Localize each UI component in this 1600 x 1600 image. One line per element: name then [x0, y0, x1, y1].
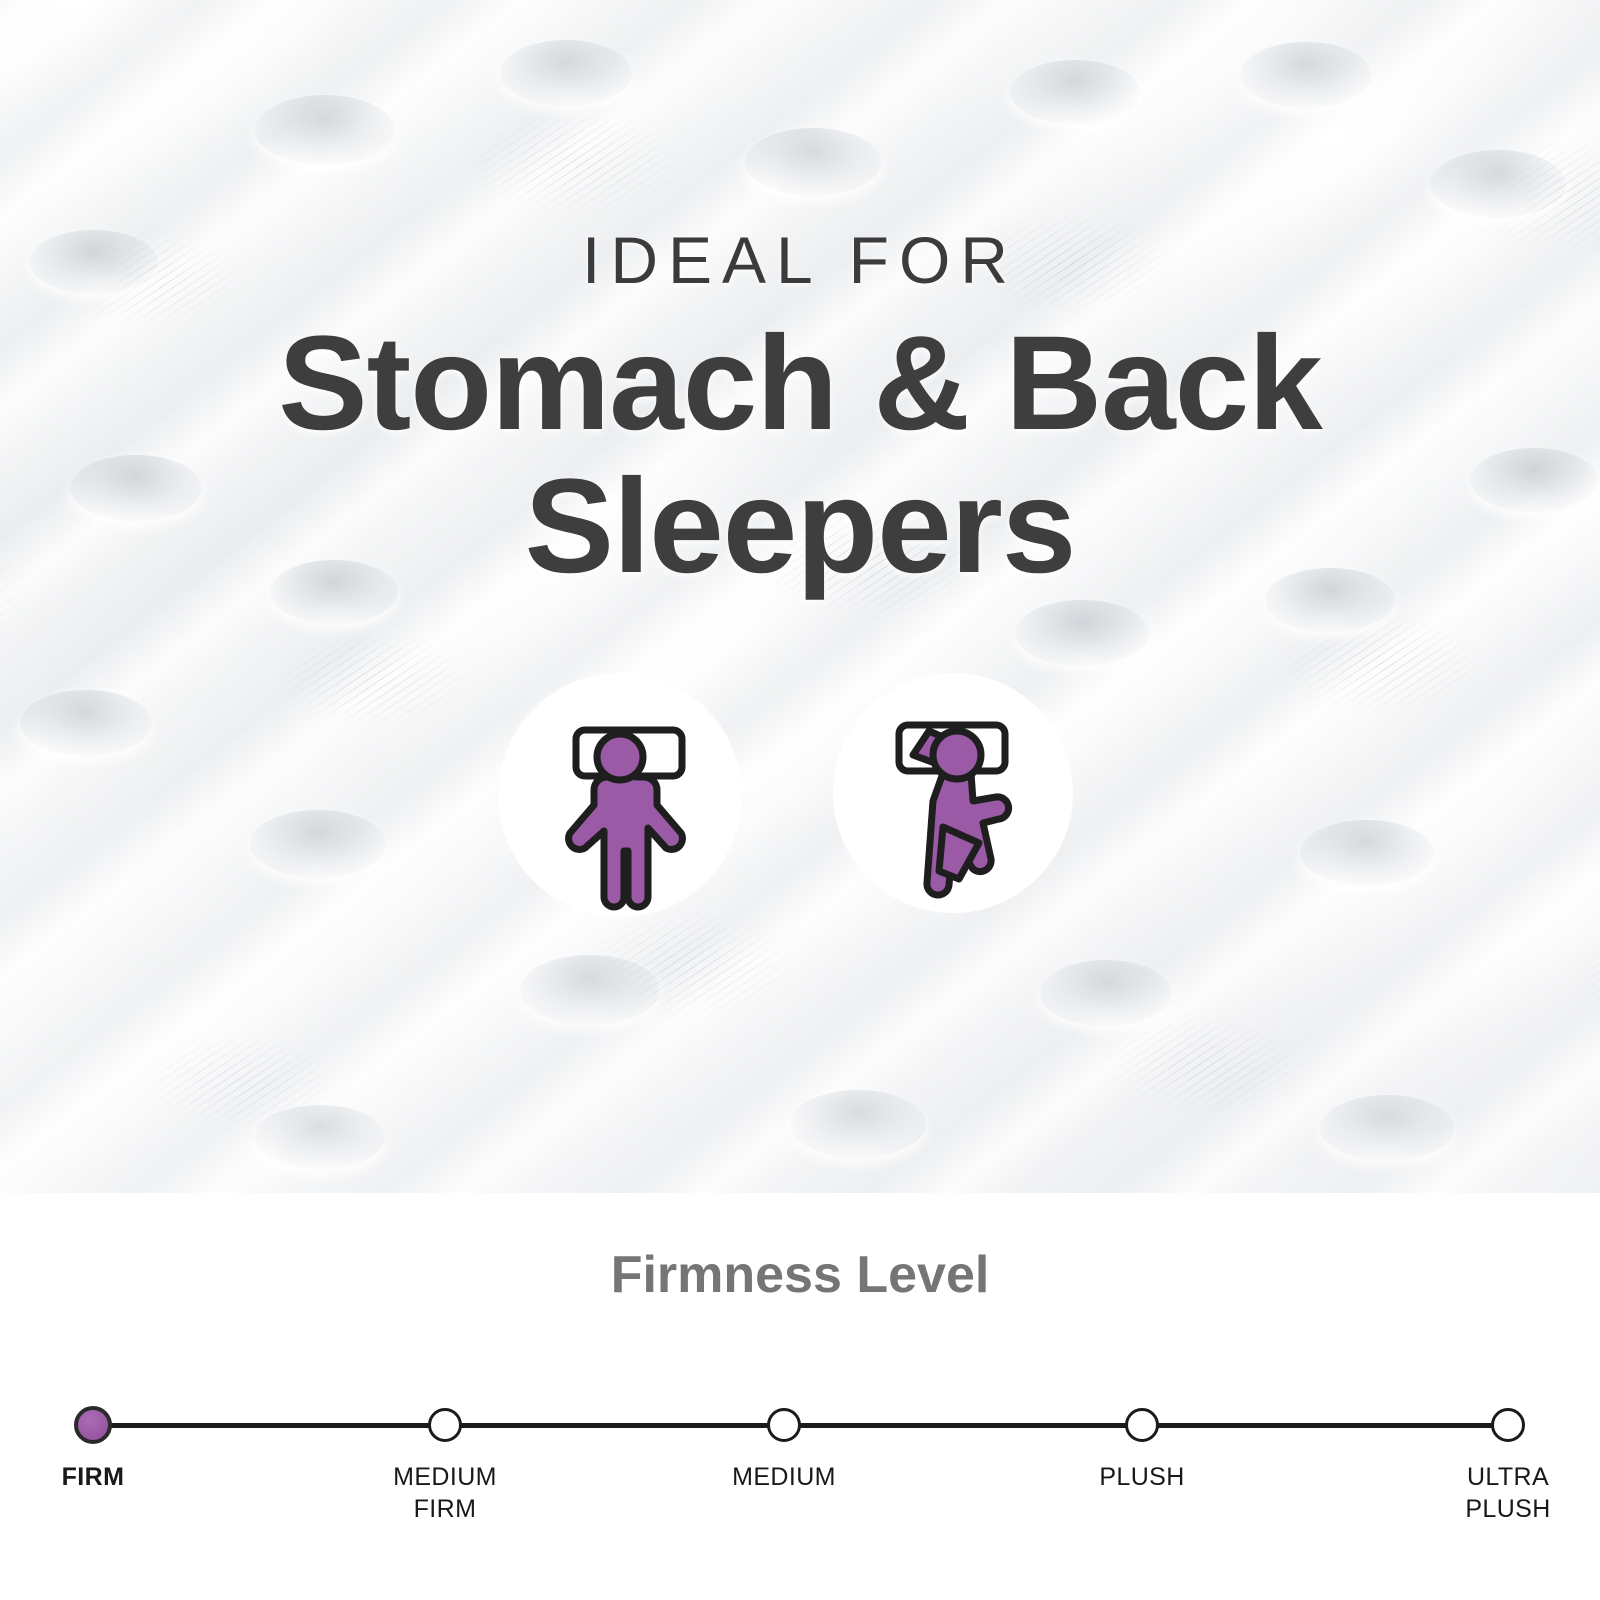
firmness-label-line1: FIRM	[62, 1463, 125, 1491]
firmness-label-plush: PLUSH	[1012, 1461, 1272, 1493]
firmness-label-line2: FIRM	[315, 1493, 575, 1525]
back-sleeper-badge	[498, 673, 742, 917]
page-title: Stomach & Back Sleepers	[0, 312, 1600, 599]
headline-line-2: Sleepers	[0, 455, 1600, 598]
headline-line-1: Stomach & Back	[0, 312, 1600, 455]
stomach-sleeper-icon	[833, 673, 1073, 913]
firmness-label-ultra-plush: ULTRA PLUSH	[1378, 1461, 1600, 1525]
firmness-label-line1: MEDIUM	[393, 1463, 497, 1491]
firmness-label-line1: ULTRA	[1467, 1463, 1549, 1491]
back-sleeper-icon	[498, 673, 742, 917]
firmness-node-medium[interactable]	[767, 1408, 801, 1442]
firmness-node-ultra-plush[interactable]	[1491, 1408, 1525, 1442]
firmness-node-medium-firm[interactable]	[428, 1408, 462, 1442]
firmness-label-line1: MEDIUM	[732, 1463, 836, 1491]
firmness-node-plush[interactable]	[1125, 1408, 1159, 1442]
stomach-sleeper-badge	[833, 673, 1073, 913]
eyebrow-text: IDEAL FOR	[0, 222, 1600, 298]
firmness-label-firm: FIRM	[0, 1461, 223, 1493]
firmness-label-line1: PLUSH	[1099, 1463, 1184, 1491]
hero-section: IDEAL FOR Stomach & Back Sleepers	[0, 0, 1600, 1193]
firmness-node-firm[interactable]	[74, 1406, 112, 1444]
firmness-label-line2: PLUSH	[1378, 1493, 1600, 1525]
firmness-scale: FIRM MEDIUM FIRM MEDIUM PLUSH ULTRA PLUS…	[0, 1193, 1600, 1600]
firmness-label-medium: MEDIUM	[654, 1461, 914, 1493]
firmness-label-medium-firm: MEDIUM FIRM	[315, 1461, 575, 1525]
firmness-section: Firmness Level FIRM MEDIUM FIRM MEDIUM P…	[0, 1193, 1600, 1600]
product-feature-card: IDEAL FOR Stomach & Back Sleepers	[0, 0, 1600, 1600]
